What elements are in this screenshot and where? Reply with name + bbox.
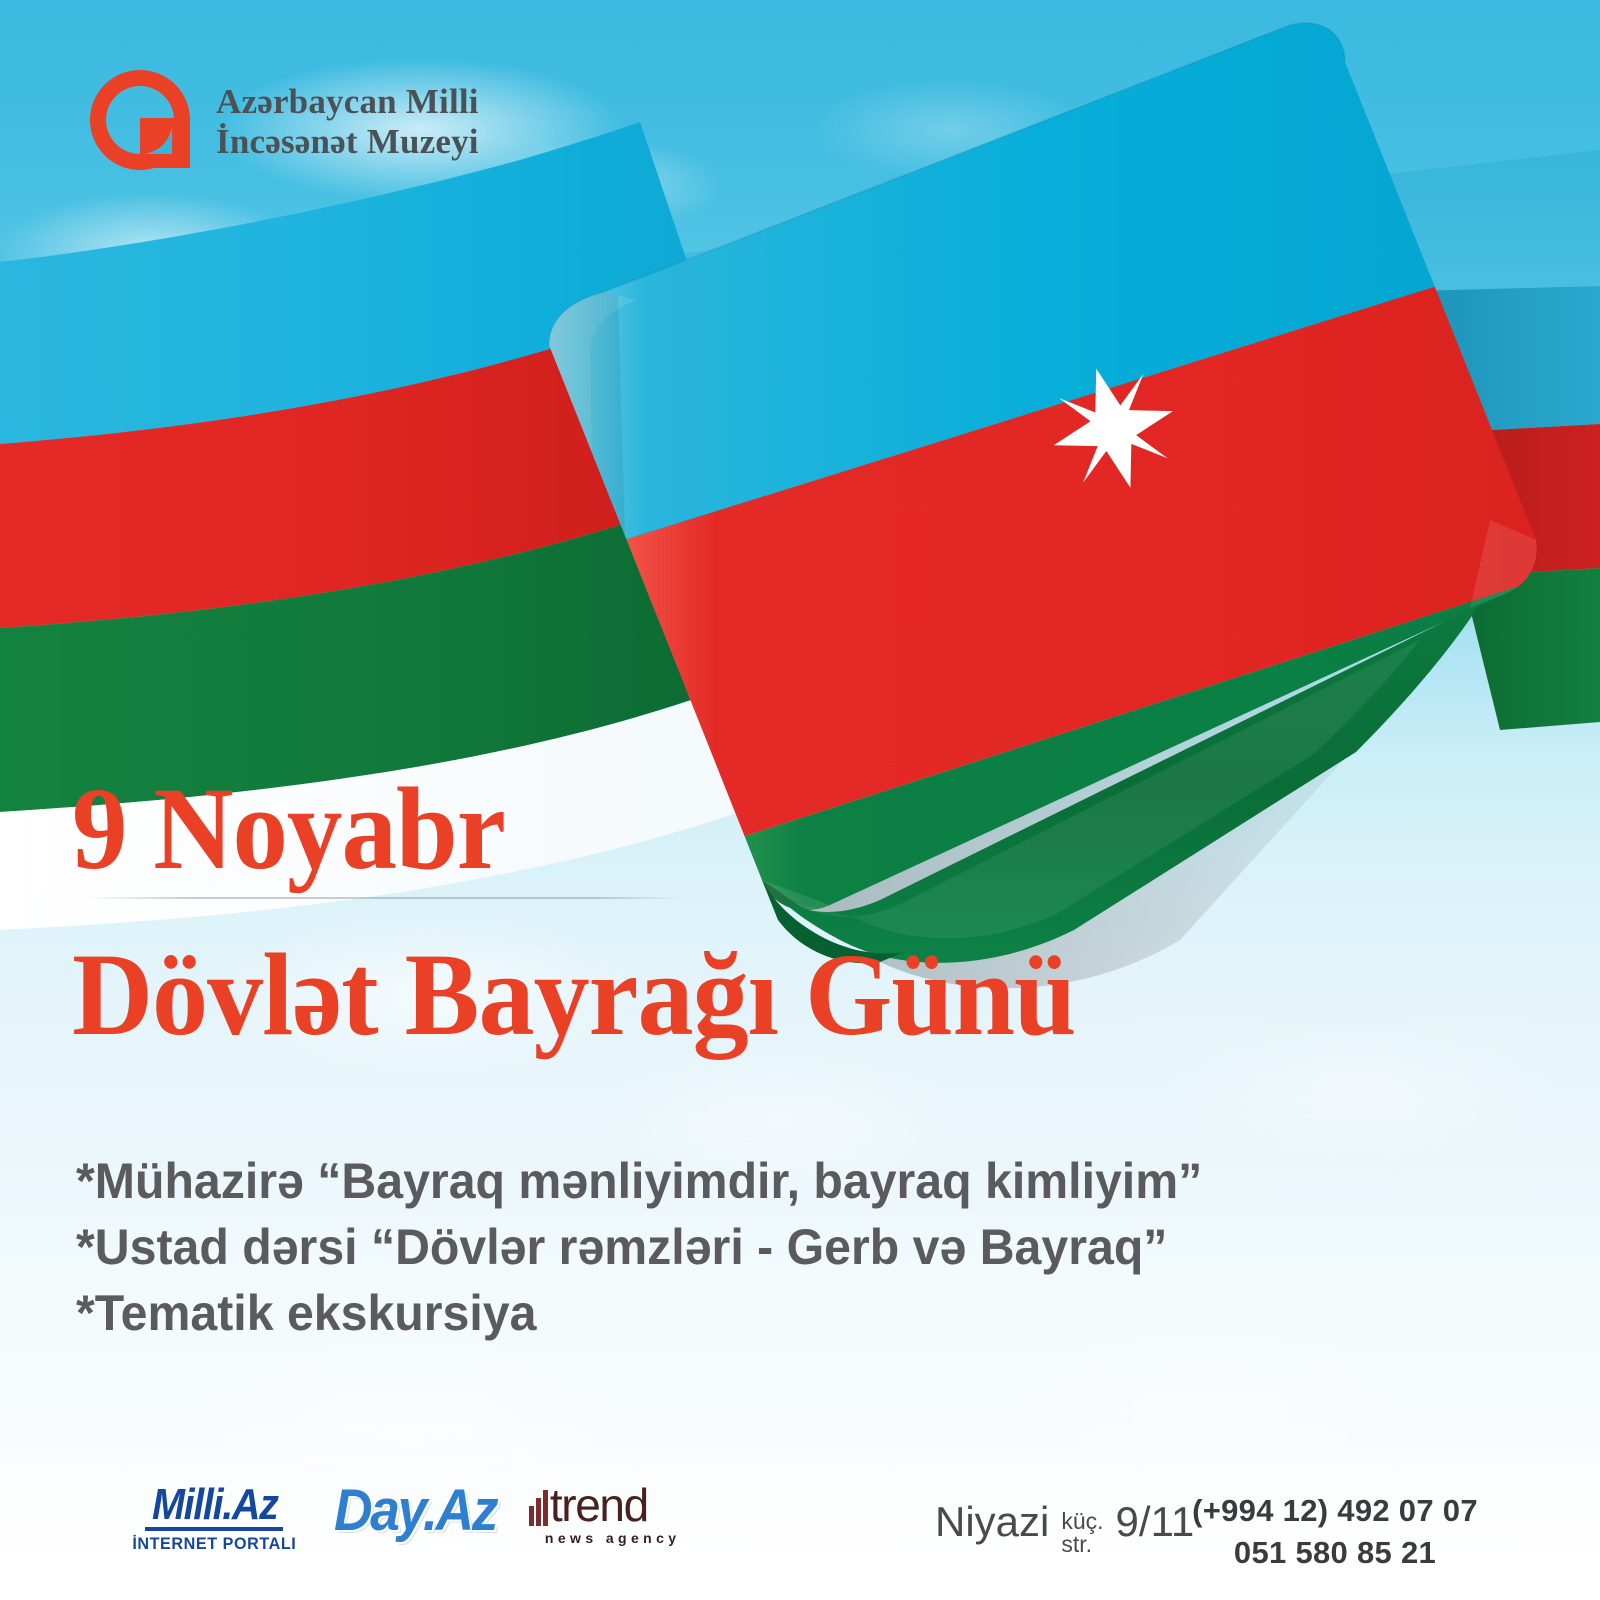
museum-q-monogram-icon xyxy=(86,66,198,178)
headline-divider xyxy=(82,897,682,899)
phone-mobile[interactable]: 051 580 85 21 xyxy=(1185,1532,1485,1574)
media-partner-logos: Milli.Az İNTERNET PORTALI Day.Az trend n… xyxy=(128,1482,680,1554)
museum-name: Azərbaycan Milli İncəsənət Muzeyi xyxy=(216,82,479,162)
program-item: *Ustad dərsi “Dövlər rəmzləri - Gerb və … xyxy=(76,1214,1485,1280)
day-az-logo[interactable]: Day.Az xyxy=(334,1482,496,1540)
program-item: *Mühazirə “Bayraq mənliyimdir, bayraq ki… xyxy=(76,1148,1485,1214)
museum-logo: Azərbaycan Milli İncəsənət Muzeyi xyxy=(86,66,479,178)
trend-bars-icon xyxy=(529,1490,548,1526)
trend-wordmark: trend xyxy=(550,1486,648,1526)
trend-tagline: news agency xyxy=(545,1530,681,1546)
milli-az-tagline: İNTERNET PORTALI xyxy=(132,1534,296,1554)
address-street: Niyazi xyxy=(935,1498,1049,1546)
program-item: *Tematik ekskursiya xyxy=(76,1280,1485,1346)
footer: Milli.Az İNTERNET PORTALI Day.Az trend n… xyxy=(0,1470,1600,1580)
address-abbr-en: str. xyxy=(1061,1533,1103,1556)
milli-az-logo[interactable]: Milli.Az İNTERNET PORTALI xyxy=(128,1484,301,1554)
venue-address: Niyazi küç. str. 9/11 xyxy=(935,1498,1194,1564)
milli-az-wordmark: Milli.Az xyxy=(152,1484,278,1526)
headline-block: 9 Noyabr Dövlət Bayrağı Günü xyxy=(72,770,1172,1054)
trend-news-agency-logo[interactable]: trend news agency xyxy=(529,1486,681,1546)
phone-landline[interactable]: (+994 12) 492 07 07 xyxy=(1185,1490,1485,1532)
contact-phones: (+994 12) 492 07 07 051 580 85 21 xyxy=(1185,1490,1485,1574)
museum-name-line2: İncəsənət Muzeyi xyxy=(216,122,479,162)
address-number: 9/11 xyxy=(1116,1498,1195,1546)
address-abbr-az: küç. xyxy=(1061,1510,1103,1533)
poster-canvas: Azərbaycan Milli İncəsənət Muzeyi 9 Noya… xyxy=(0,0,1600,1600)
program-list: *Mühazirə “Bayraq mənliyimdir, bayraq ki… xyxy=(76,1148,1536,1346)
address-street-abbr: küç. str. xyxy=(1061,1510,1103,1557)
museum-name-line1: Azərbaycan Milli xyxy=(216,82,479,122)
trend-wordmark-row: trend xyxy=(529,1486,648,1526)
headline-occasion: Dövlət Bayrağı Günü xyxy=(72,936,1117,1054)
headline-date: 9 Noyabr xyxy=(72,770,1106,888)
